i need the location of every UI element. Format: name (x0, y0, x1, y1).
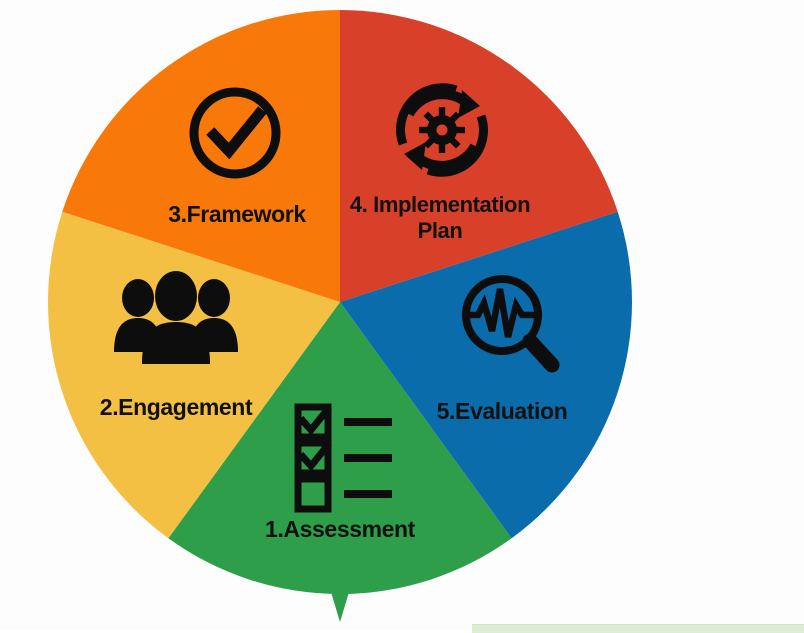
bottom-banner-strip (472, 624, 804, 633)
process-wheel-diagram: 1.Assessment2.Engagement3.Framework4. Im… (0, 0, 804, 630)
wedge-label-evaluation: 5.Evaluation (437, 398, 568, 424)
diagram-canvas: 1.Assessment2.Engagement3.Framework4. Im… (0, 0, 804, 630)
wedge-label-assessment: 1.Assessment (265, 516, 416, 542)
wedge-label-framework: 3.Framework (168, 201, 306, 227)
wedge-label-engagement: 2.Engagement (100, 394, 253, 420)
